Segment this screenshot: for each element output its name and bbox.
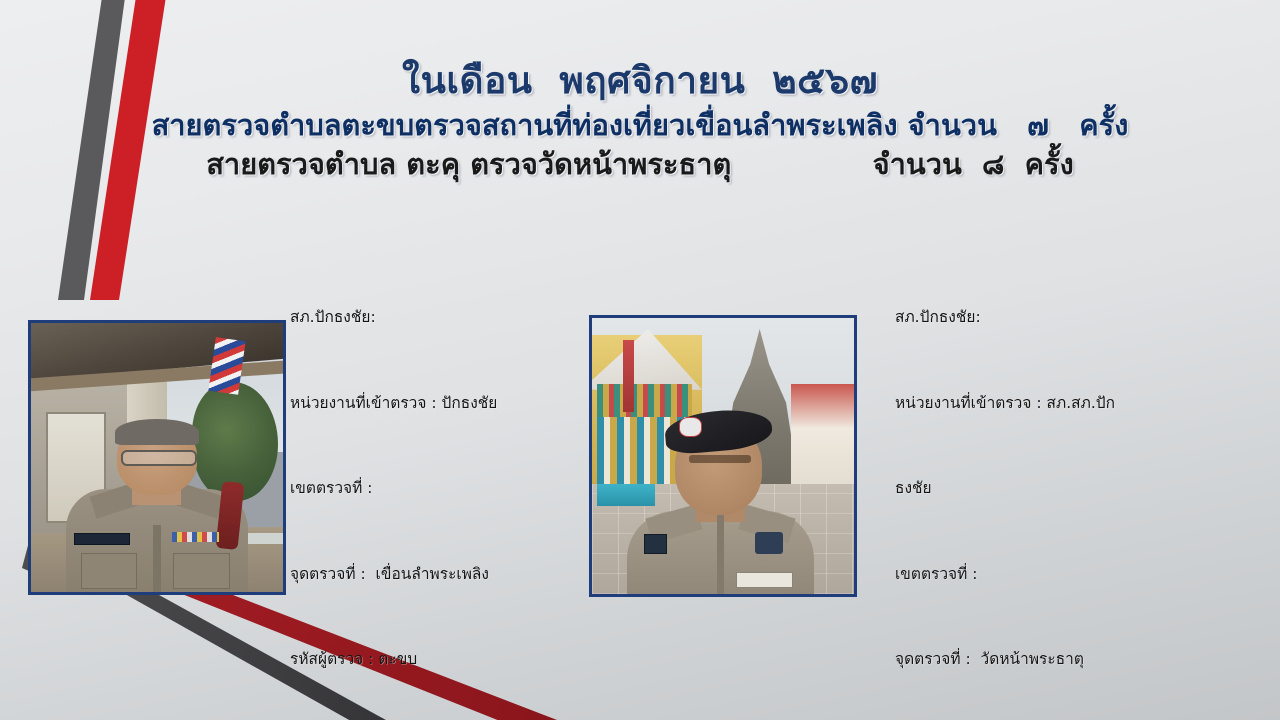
record-line-inspector-code: รหัสผู้ตรวจ : ตะขบ (290, 645, 580, 674)
photo-right-rank-insignia (644, 534, 667, 554)
photo-left-canvas (31, 323, 283, 592)
title-line-month: ในเดือน พฤศจิกายน ๒๕๖๗ (0, 60, 1280, 103)
photo-right-eyebrows (689, 455, 751, 463)
photo-right-nametag (736, 572, 793, 588)
photo-left-officer (28, 320, 286, 595)
record-line-station: สภ.ปักธงชัย: (895, 303, 1195, 332)
record-line-zone: เขตตรวจที่ : (290, 474, 580, 503)
photo-right-officer (589, 315, 857, 597)
title-line-takhu-summary: สายตรวจตำบล ตะคุ ตรวจวัดหน้าพระธาตุ จำนว… (0, 146, 1280, 183)
patrol-record-right: สภ.ปักธงชัย: หน่วยงานที่เข้าตรวจ : สภ.สภ… (895, 246, 1195, 720)
photo-left-person (66, 425, 247, 592)
record-line-checkpoint: จุดตรวจที่ : เขื่อนลำพระเพลิง (290, 560, 580, 589)
photo-right-person (634, 395, 807, 594)
slide-title-block: ในเดือน พฤศจิกายน ๒๕๖๗ สายตรวจตำบลตะขบตร… (0, 60, 1280, 183)
record-line-checkpoint: จุดตรวจที่ : วัดหน้าพระธาตุ (895, 645, 1195, 674)
photo-right-canvas (592, 318, 854, 594)
record-line-unit-cont: ธงชัย (895, 474, 1195, 503)
photo-left-nametag (74, 533, 130, 545)
photo-left-pocket-left (81, 553, 137, 588)
photo-left-shirt-placket (153, 525, 160, 592)
presentation-slide: ในเดือน พฤศจิกายน ๒๕๖๗ สายตรวจตำบลตะขบตร… (0, 0, 1280, 720)
photo-left-pocket-right (173, 553, 229, 588)
patrol-record-left: สภ.ปักธงชัย: หน่วยงานที่เข้าตรวจ : ปักธง… (290, 246, 580, 720)
photo-left-glasses (121, 450, 198, 466)
photo-right-beret-badge (679, 417, 702, 437)
record-line-unit: หน่วยงานที่เข้าตรวจ : สภ.สภ.ปัก (895, 389, 1195, 418)
record-line-zone: เขตตรวจที่ : (895, 560, 1195, 589)
title-line-takhop-summary: สายตรวจตำบลตะขบตรวจสถานที่ท่องเที่ยวเขื่… (0, 107, 1280, 144)
photo-left-hair (115, 419, 198, 446)
record-line-station: สภ.ปักธงชัย: (290, 303, 580, 332)
record-line-unit: หน่วยงานที่เข้าตรวจ : ปักธงชัย (290, 389, 580, 418)
photo-left-ribbon-bar (172, 532, 219, 542)
photo-right-shirt-placket (717, 515, 724, 594)
photo-right-chest-emblem (755, 532, 783, 554)
photo-right-temple-banner (623, 340, 633, 412)
